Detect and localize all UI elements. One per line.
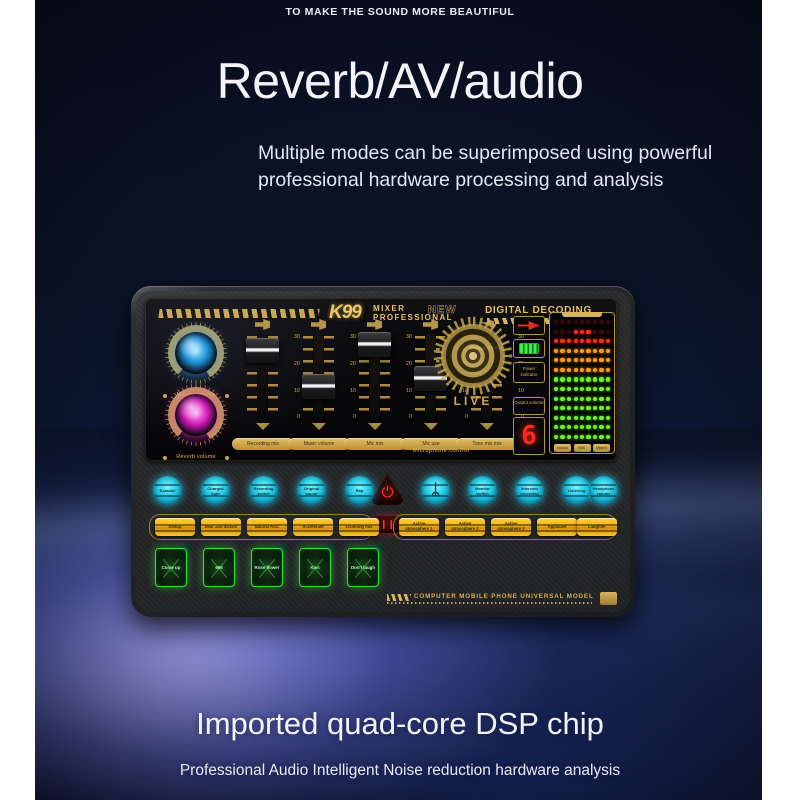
teal-button-recording-switch[interactable]: Recording switch <box>249 476 278 505</box>
vu-led <box>554 339 558 343</box>
vu-led <box>580 349 584 353</box>
vu-row <box>574 320 591 324</box>
vu-row <box>554 330 571 334</box>
vu-led <box>593 377 597 381</box>
vu-led <box>560 387 564 391</box>
vu-led <box>574 339 578 343</box>
vu-led <box>593 435 597 439</box>
teal-button-listening[interactable]: Listening <box>562 476 591 505</box>
vu-led <box>580 425 584 429</box>
vu-row <box>554 349 571 353</box>
vu-led <box>567 349 571 353</box>
yellow-button-accelerate[interactable]: Accelerate <box>293 518 333 536</box>
vu-row <box>574 406 591 410</box>
teal-button-label: Original sound <box>299 486 324 496</box>
vu-led <box>567 406 571 410</box>
vu-row <box>593 320 610 324</box>
vu-led <box>574 377 578 381</box>
vu-led <box>560 406 564 410</box>
vu-row <box>574 339 591 343</box>
vu-led <box>593 330 597 334</box>
vu-led <box>580 397 584 401</box>
vu-led <box>560 435 564 439</box>
yellow-button-label: Natural AGC <box>255 525 280 530</box>
vu-label-mic: MIC <box>574 444 591 452</box>
yellow-button-label: Active atmosphere 2 <box>447 522 483 532</box>
yellow-button-label: Listening mix <box>346 525 373 530</box>
vu-led <box>606 339 610 343</box>
vu-row <box>574 397 591 401</box>
fader-scale: 30 20 10 0 <box>287 334 300 420</box>
vu-row <box>554 425 571 429</box>
vu-led <box>593 406 597 410</box>
fader-arrow <box>256 423 270 430</box>
vu-led <box>593 387 597 391</box>
vu-row <box>593 406 610 410</box>
vu-row <box>593 368 610 372</box>
vu-led <box>599 339 603 343</box>
vu-led <box>606 406 610 410</box>
signal-indicator <box>513 316 545 335</box>
vu-led <box>586 416 590 420</box>
vu-led <box>599 425 603 429</box>
knob-cap[interactable] <box>175 332 217 374</box>
model-badge <box>600 592 617 605</box>
green-pad-kiss[interactable]: Kiss <box>299 548 331 587</box>
vu-led <box>560 349 564 353</box>
signal-icon <box>518 321 540 330</box>
fader-arrow <box>480 423 494 430</box>
vu-led <box>580 368 584 372</box>
scale-tick: 0 <box>353 414 356 420</box>
vu-led <box>586 406 590 410</box>
vu-led <box>606 368 610 372</box>
vu-column <box>554 320 571 439</box>
vu-led <box>606 397 610 401</box>
vu-led <box>580 416 584 420</box>
vu-led <box>560 358 564 362</box>
vu-led <box>606 387 610 391</box>
yellow-button-label: Applause <box>548 525 567 530</box>
vu-row <box>574 358 591 362</box>
vu-led <box>599 368 603 372</box>
yellow-button-active-atmosphere-1[interactable]: Active atmosphere 1 <box>399 518 439 536</box>
vu-led <box>567 435 571 439</box>
vu-led <box>574 349 578 353</box>
vu-led <box>599 416 603 420</box>
sound-card-device: K99 MIXER PROFESSIONAL NEW DIGITAL DECOD… <box>131 286 635 617</box>
vu-led <box>567 425 571 429</box>
vu-led <box>593 368 597 372</box>
vu-column <box>574 320 591 439</box>
vu-row <box>593 339 610 343</box>
tagline: TO MAKE THE SOUND MORE BEAUTIFUL <box>0 6 800 18</box>
knob-reverb-volume[interactable]: Reverb volume <box>175 394 217 436</box>
vu-row <box>593 397 610 401</box>
volume-indicator: Output volume <box>513 397 545 415</box>
teal-button-row: ⏻ ❙❙ KaraokeCharged lightRecording switc… <box>149 476 617 506</box>
microphone-control-label: Microphone control <box>381 448 501 454</box>
vu-row <box>593 435 610 439</box>
vu-meter-panel: Music MIC Mixed <box>549 312 615 454</box>
scale-tick: 20 <box>350 361 356 367</box>
vu-row <box>574 349 591 353</box>
vu-led <box>554 397 558 401</box>
teal-button-karaoke[interactable]: Karaoke <box>153 476 182 505</box>
teal-button-label: Headphone volume <box>591 486 616 496</box>
yellow-button-label: Accelerate <box>302 525 323 530</box>
vu-led <box>574 416 578 420</box>
vu-led <box>560 377 564 381</box>
vu-led <box>567 339 571 343</box>
green-pad-label: Rose flower <box>255 565 280 570</box>
vu-led <box>567 397 571 401</box>
green-pad-come-up[interactable]: Come up <box>155 548 187 587</box>
vu-led <box>560 320 564 324</box>
scale-tick: 10 <box>294 388 300 394</box>
status-indicator-column: Power indicator Output volume 6 <box>513 316 543 455</box>
teal-button-charged-light[interactable]: Charged light <box>201 476 230 505</box>
battery-icon <box>519 343 539 354</box>
vu-led <box>586 330 590 334</box>
faceplate-panel: K99 MIXER PROFESSIONAL NEW DIGITAL DECOD… <box>145 298 617 461</box>
vu-led <box>554 387 558 391</box>
vu-led <box>580 339 584 343</box>
vu-led <box>574 320 578 324</box>
teal-button-monitor-switch[interactable]: Monitor switch <box>468 476 497 505</box>
bottom-model-strip: COMPUTER MOBILE PHONE UNIVERSAL MODEL <box>387 592 617 606</box>
fader-cap[interactable] <box>358 332 391 357</box>
vu-led <box>606 358 610 362</box>
scale-tick: 30 <box>406 334 412 340</box>
vu-led <box>567 330 571 334</box>
scale-tick: 0 <box>409 414 412 420</box>
green-pad-label: Come up <box>162 565 181 570</box>
vu-led <box>580 377 584 381</box>
vu-led <box>580 387 584 391</box>
green-pad-666[interactable]: 666 <box>203 548 235 587</box>
footer-headline: Imported quad-core DSP chip <box>0 706 800 742</box>
vu-led <box>599 320 603 324</box>
vu-labels: Music MIC Mixed <box>554 444 610 452</box>
knob-cap[interactable] <box>175 394 217 436</box>
green-pad-rose-flower[interactable]: Rose flower <box>251 548 283 587</box>
vu-row <box>574 330 591 334</box>
bluetooth-icon: ᛦ <box>431 483 441 499</box>
yellow-button-listening-mix[interactable]: Listening mix <box>339 518 379 536</box>
dial-segments <box>433 316 513 396</box>
vu-row <box>554 435 571 439</box>
subcopy: Multiple modes can be superimposed using… <box>258 140 728 194</box>
yellow-button-active-atmosphere-2[interactable]: Active atmosphere 2 <box>445 518 485 536</box>
fader-arrow <box>368 423 382 430</box>
vu-led <box>560 425 564 429</box>
yellow-button-laughter[interactable]: Laughter <box>577 518 617 536</box>
vu-row <box>554 387 571 391</box>
vu-led <box>580 320 584 324</box>
vu-row <box>593 330 610 334</box>
vu-led <box>560 339 564 343</box>
vu-row <box>554 368 571 372</box>
vu-led <box>586 368 590 372</box>
vu-led <box>574 368 578 372</box>
vu-led <box>606 377 610 381</box>
teal-button-label: Monitor switch <box>470 486 495 496</box>
vu-led <box>560 397 564 401</box>
power-indicator-label: Power indicator <box>514 366 544 377</box>
vu-led <box>574 387 578 391</box>
vu-led <box>574 358 578 362</box>
teal-button-label: Rap <box>356 488 364 493</box>
scale-tick: 20 <box>294 361 300 367</box>
vu-led <box>586 349 590 353</box>
scale-tick: 10 <box>350 388 356 394</box>
vu-led <box>554 416 558 420</box>
vu-led <box>606 416 610 420</box>
vu-led <box>593 416 597 420</box>
vu-led <box>560 416 564 420</box>
yellow-button-near-and-distant[interactable]: Near and distant <box>201 518 241 536</box>
vu-row <box>593 358 610 362</box>
fader-scale: 30 20 10 0 <box>343 334 356 420</box>
scale-tick: 30 <box>350 334 356 340</box>
vu-led <box>554 406 558 410</box>
green-pad-label: Kiss <box>310 565 319 570</box>
vu-led <box>606 320 610 324</box>
vu-top-trim <box>562 312 602 317</box>
vu-led <box>586 387 590 391</box>
vu-led <box>574 425 578 429</box>
yellow-button-label: Laughter <box>588 525 606 530</box>
knob-label: Reverb volume <box>159 454 233 460</box>
vu-column <box>593 320 610 439</box>
vu-row <box>574 377 591 381</box>
vu-row <box>574 387 591 391</box>
live-dial-graphic: LIVE <box>435 320 511 416</box>
vu-row <box>554 406 571 410</box>
hatch-decoration-bottom <box>387 594 411 601</box>
vu-row <box>593 377 610 381</box>
hatch-decoration-left <box>158 309 319 318</box>
vu-led <box>554 358 558 362</box>
yellow-button-label: Dedup <box>168 525 181 530</box>
vu-led <box>554 349 558 353</box>
yellow-button-row: DedupNear and distantNatural AGCAccelera… <box>149 514 617 540</box>
vu-led <box>599 330 603 334</box>
yellow-button-natural-agc[interactable]: Natural AGC <box>247 518 287 536</box>
vu-row <box>554 377 571 381</box>
vu-led <box>599 377 603 381</box>
vu-row <box>554 320 571 324</box>
teal-button-intercom-recording[interactable]: Intercom recording <box>515 476 544 505</box>
vu-led <box>567 358 571 362</box>
power-indicator: Power indicator <box>513 362 545 383</box>
yellow-button-dedup[interactable]: Dedup <box>155 518 195 536</box>
yellow-button-label: Active atmosphere 1 <box>401 522 437 532</box>
vu-led <box>606 425 610 429</box>
vu-led <box>580 435 584 439</box>
teal-button-bluetooth[interactable]: ᛦ <box>421 476 450 505</box>
vu-label-mixed: Mixed <box>593 444 610 452</box>
power-icon: ⏻ <box>382 485 394 500</box>
vu-led <box>606 330 610 334</box>
vu-row <box>554 339 571 343</box>
vu-row <box>554 416 571 420</box>
vu-led <box>593 425 597 429</box>
vu-row <box>574 368 591 372</box>
volume-indicator-label: Output volume <box>514 400 544 406</box>
vu-row <box>574 435 591 439</box>
vu-led <box>574 330 578 334</box>
vu-row <box>593 387 610 391</box>
dot-decoration <box>387 602 592 604</box>
teal-button-label: Listening <box>568 488 586 493</box>
vu-led <box>567 377 571 381</box>
scale-tick: 0 <box>297 414 300 420</box>
vu-led <box>586 358 590 362</box>
footer-subline: Professional Audio Intelligent Noise red… <box>0 762 800 780</box>
vu-led <box>606 435 610 439</box>
live-label: LIVE <box>435 394 511 408</box>
vu-led <box>574 435 578 439</box>
yellow-button-label: Active atmosphere 3 <box>493 522 529 532</box>
vu-led <box>567 368 571 372</box>
battery-indicator <box>513 339 545 358</box>
bottom-model-text: COMPUTER MOBILE PHONE UNIVERSAL MODEL <box>414 593 594 600</box>
vu-led <box>586 320 590 324</box>
teal-button-label: Karaoke <box>160 488 176 493</box>
vu-led <box>560 368 564 372</box>
vu-led <box>593 320 597 324</box>
vu-led <box>586 397 590 401</box>
scale-tick: 30 <box>294 334 300 340</box>
vu-led <box>580 358 584 362</box>
digit-value: 6 <box>514 423 544 449</box>
teal-button-rap[interactable]: Rap <box>345 476 374 505</box>
fader-label: Music volume <box>288 438 350 450</box>
yellow-button-applause[interactable]: Applause <box>537 518 577 536</box>
digit-display: 6 <box>513 417 545 455</box>
vu-led <box>593 358 597 362</box>
teal-button-original-sound[interactable]: Original sound <box>297 476 326 505</box>
green-pad-don-t-laugh[interactable]: Don't laugh <box>347 548 379 587</box>
vu-led <box>554 330 558 334</box>
teal-button-label: Recording switch <box>251 486 276 496</box>
scale-tick: 10 <box>406 388 412 394</box>
product-marketing-image: TO MAKE THE SOUND MORE BEAUTIFUL Reverb/… <box>0 0 800 800</box>
vu-led <box>580 330 584 334</box>
vu-led <box>554 425 558 429</box>
vu-led <box>554 377 558 381</box>
vu-led <box>593 397 597 401</box>
vu-led <box>567 387 571 391</box>
vu-led <box>554 320 558 324</box>
vu-led <box>599 397 603 401</box>
fader-arrow <box>312 423 326 430</box>
brand-logo: K99 <box>329 302 361 324</box>
vu-row <box>593 416 610 420</box>
teal-button-label: Charged light <box>203 486 228 496</box>
teal-button-headphone-volume[interactable]: Headphone volume <box>589 476 618 505</box>
brand-bar: K99 MIXER PROFESSIONAL NEW DIGITAL DECOD… <box>145 302 617 322</box>
vu-led <box>599 358 603 362</box>
vu-led <box>606 349 610 353</box>
vu-row <box>554 358 571 362</box>
vu-led <box>560 330 564 334</box>
power-button[interactable]: ⏻ <box>371 474 404 505</box>
teal-button-label: Intercom recording <box>517 486 542 496</box>
green-pad-label: Don't laugh <box>351 565 375 570</box>
brand-new-tag: NEW <box>428 304 457 316</box>
vu-row <box>574 425 591 429</box>
fader-cap[interactable] <box>246 338 279 363</box>
vu-led <box>554 368 558 372</box>
vu-led <box>599 349 603 353</box>
fader-arrow <box>424 423 438 430</box>
vu-led <box>593 339 597 343</box>
vu-row <box>593 349 610 353</box>
vu-led <box>574 397 578 401</box>
fader-label: Recording mix <box>232 438 294 450</box>
vu-row <box>554 397 571 401</box>
vu-columns <box>554 320 610 439</box>
vu-row <box>574 416 591 420</box>
vu-led <box>567 320 571 324</box>
vu-led <box>599 435 603 439</box>
vu-led <box>599 406 603 410</box>
yellow-button-label: Near and distant <box>205 525 238 530</box>
vu-label-music: Music <box>554 444 571 452</box>
vu-led <box>586 339 590 343</box>
green-pad-row: Come up666Rose flowerKissDon't laugh <box>151 548 619 588</box>
yellow-button-active-atmosphere-3[interactable]: Active atmosphere 3 <box>491 518 531 536</box>
vu-led <box>593 349 597 353</box>
vu-led <box>599 387 603 391</box>
vu-led <box>586 435 590 439</box>
fader-cap[interactable] <box>302 374 335 399</box>
vu-led <box>580 406 584 410</box>
scale-tick: 20 <box>406 361 412 367</box>
vu-led <box>567 416 571 420</box>
knob-master-volume[interactable]: Master volume <box>175 332 217 374</box>
green-pad-label: 666 <box>215 565 222 570</box>
fader-scale: 30 20 10 0 <box>399 334 412 420</box>
vu-led <box>554 435 558 439</box>
vu-led <box>586 425 590 429</box>
page-title: Reverb/AV/audio <box>0 52 800 110</box>
vu-led <box>586 377 590 381</box>
vu-led <box>574 406 578 410</box>
vu-row <box>593 425 610 429</box>
